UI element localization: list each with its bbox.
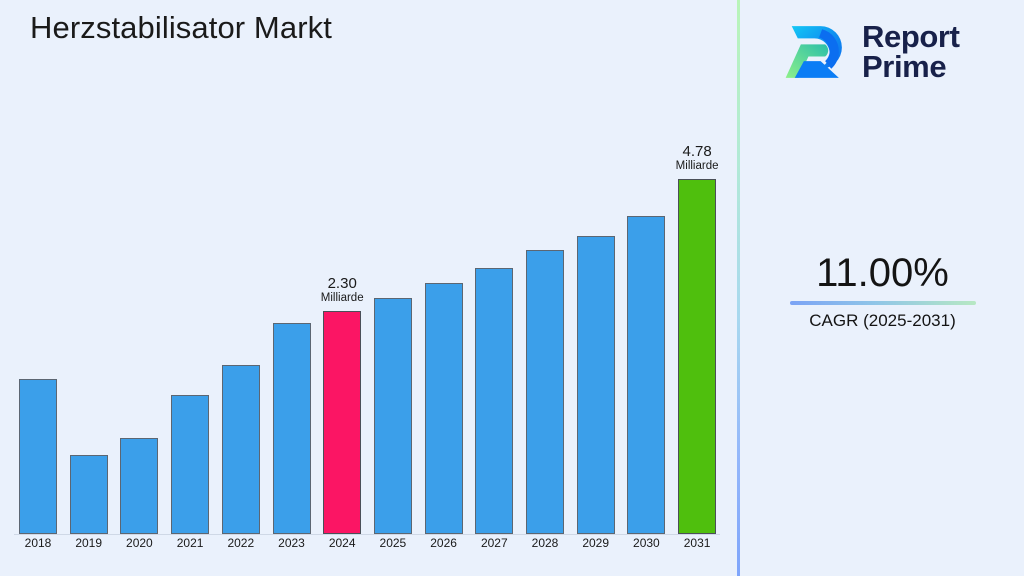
bar-unit-2031: Milliarde (676, 160, 719, 173)
bar-2028[interactable] (526, 250, 564, 534)
bar-rect-2030[interactable] (627, 216, 665, 534)
bar-rect-2023[interactable] (273, 323, 311, 534)
bar-2022[interactable] (222, 365, 260, 534)
bar-rect-2019[interactable] (70, 455, 108, 534)
cagr-caption: CAGR (2025-2031) (741, 311, 1024, 331)
page-title: Herzstabilisator Markt (30, 10, 332, 46)
brand-name-line2: Prime (862, 52, 960, 82)
bar-2029[interactable] (577, 236, 615, 534)
x-tick-2019: 2019 (70, 536, 108, 550)
x-tick-2025: 2025 (374, 536, 412, 550)
slide-root: Herzstabilisator Markt 2.30Milliarde4.78… (0, 0, 1024, 576)
x-tick-2022: 2022 (222, 536, 260, 550)
bar-rect-2029[interactable] (577, 236, 615, 534)
bar-rect-2020[interactable] (120, 438, 158, 534)
bar-2027[interactable] (475, 268, 513, 534)
bar-rect-2021[interactable] (171, 395, 209, 534)
bar-rect-2024[interactable] (323, 311, 361, 534)
bar-rect-2022[interactable] (222, 365, 260, 534)
x-tick-2023: 2023 (273, 536, 311, 550)
x-tick-2030: 2030 (627, 536, 665, 550)
bar-chart-plot-area: 2.30Milliarde4.78Milliarde (0, 120, 730, 535)
bar-2021[interactable] (171, 395, 209, 534)
brand-logo: Report Prime (775, 14, 960, 90)
cagr-block: 11.00% CAGR (2025-2031) (741, 252, 1024, 331)
bar-value-label-2031: 4.78Milliarde (676, 143, 719, 179)
bar-rect-2026[interactable] (425, 283, 463, 534)
cagr-divider-rule (790, 301, 976, 305)
bar-2018[interactable] (19, 379, 57, 534)
report-prime-logo-icon (775, 14, 851, 90)
chart-panel: Herzstabilisator Markt 2.30Milliarde4.78… (0, 0, 738, 576)
bar-value-label-2024: 2.30Milliarde (321, 275, 364, 311)
x-tick-2024: 2024 (323, 536, 361, 550)
x-tick-2029: 2029 (577, 536, 615, 550)
side-panel: Report Prime 11.00% CAGR (2025-2031) (741, 0, 1024, 576)
x-tick-2018: 2018 (19, 536, 57, 550)
bar-rect-2028[interactable] (526, 250, 564, 534)
x-tick-2021: 2021 (171, 536, 209, 550)
x-axis-tick-labels: 2018201920202021202220232024202520262027… (0, 536, 730, 560)
brand-name: Report Prime (862, 22, 960, 83)
panel-divider (737, 0, 740, 576)
bar-2030[interactable] (627, 216, 665, 534)
bar-series: 2.30Milliarde4.78Milliarde (0, 120, 730, 534)
bar-2019[interactable] (70, 455, 108, 534)
bar-2025[interactable] (374, 298, 412, 534)
bar-2024[interactable]: 2.30Milliarde (323, 311, 361, 534)
bar-rect-2018[interactable] (19, 379, 57, 534)
x-tick-2026: 2026 (425, 536, 463, 550)
bar-2031[interactable]: 4.78Milliarde (678, 179, 716, 534)
bar-rect-2025[interactable] (374, 298, 412, 534)
bar-2020[interactable] (120, 438, 158, 534)
cagr-value: 11.00% (741, 252, 1024, 294)
bar-2023[interactable] (273, 323, 311, 534)
bar-2026[interactable] (425, 283, 463, 534)
brand-name-line1: Report (862, 22, 960, 52)
bar-rect-2027[interactable] (475, 268, 513, 534)
bar-value-2031: 4.78 (676, 143, 719, 160)
bar-value-2024: 2.30 (321, 275, 364, 292)
x-tick-2028: 2028 (526, 536, 564, 550)
bar-unit-2024: Milliarde (321, 292, 364, 305)
x-tick-2031: 2031 (678, 536, 716, 550)
x-tick-2020: 2020 (120, 536, 158, 550)
x-tick-2027: 2027 (475, 536, 513, 550)
x-axis-line (14, 534, 720, 535)
bar-rect-2031[interactable] (678, 179, 716, 534)
